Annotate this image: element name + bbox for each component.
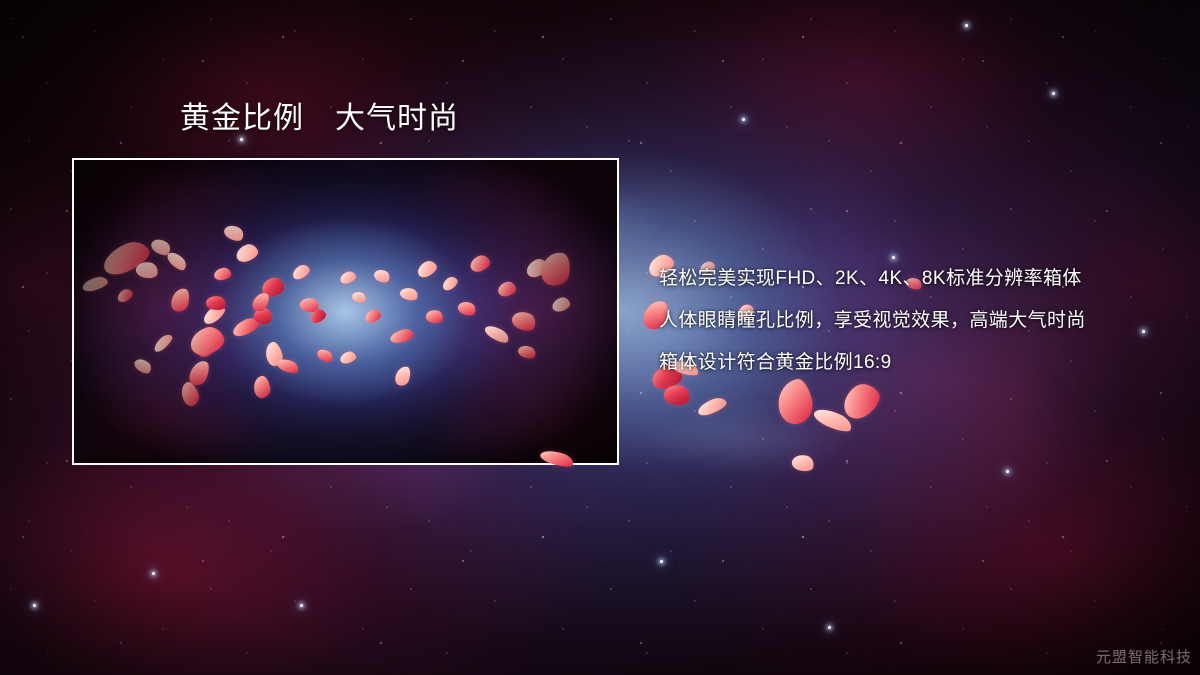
photo-vignette — [74, 160, 617, 463]
slide-canvas: 黄金比例 大气时尚 轻松完美实现FHD、2K、4K、8K标准分辨率箱体 人体眼睛… — [0, 0, 1200, 675]
bright-star — [660, 560, 663, 563]
bright-star — [1052, 92, 1055, 95]
body-line-3: 箱体设计符合黄金比例16:9 — [659, 342, 1159, 384]
watermark-label: 元盟智能科技 — [1096, 646, 1192, 667]
bright-star — [152, 572, 155, 575]
framed-photo[interactable] — [72, 158, 619, 465]
bright-star — [742, 118, 745, 121]
bright-star — [240, 138, 243, 141]
page-title: 黄金比例 大气时尚 — [180, 102, 459, 137]
body-text-block: 轻松完美实现FHD、2K、4K、8K标准分辨率箱体 人体眼睛瞳孔比例，享受视觉效… — [659, 258, 1159, 384]
body-line-2: 人体眼睛瞳孔比例，享受视觉效果，高端大气时尚 — [659, 300, 1159, 342]
body-line-1: 轻松完美实现FHD、2K、4K、8K标准分辨率箱体 — [659, 258, 1159, 300]
bright-star — [828, 626, 831, 629]
bright-star — [33, 604, 36, 607]
bright-star — [300, 604, 303, 607]
bright-star — [1006, 470, 1009, 473]
bright-star — [965, 24, 968, 27]
